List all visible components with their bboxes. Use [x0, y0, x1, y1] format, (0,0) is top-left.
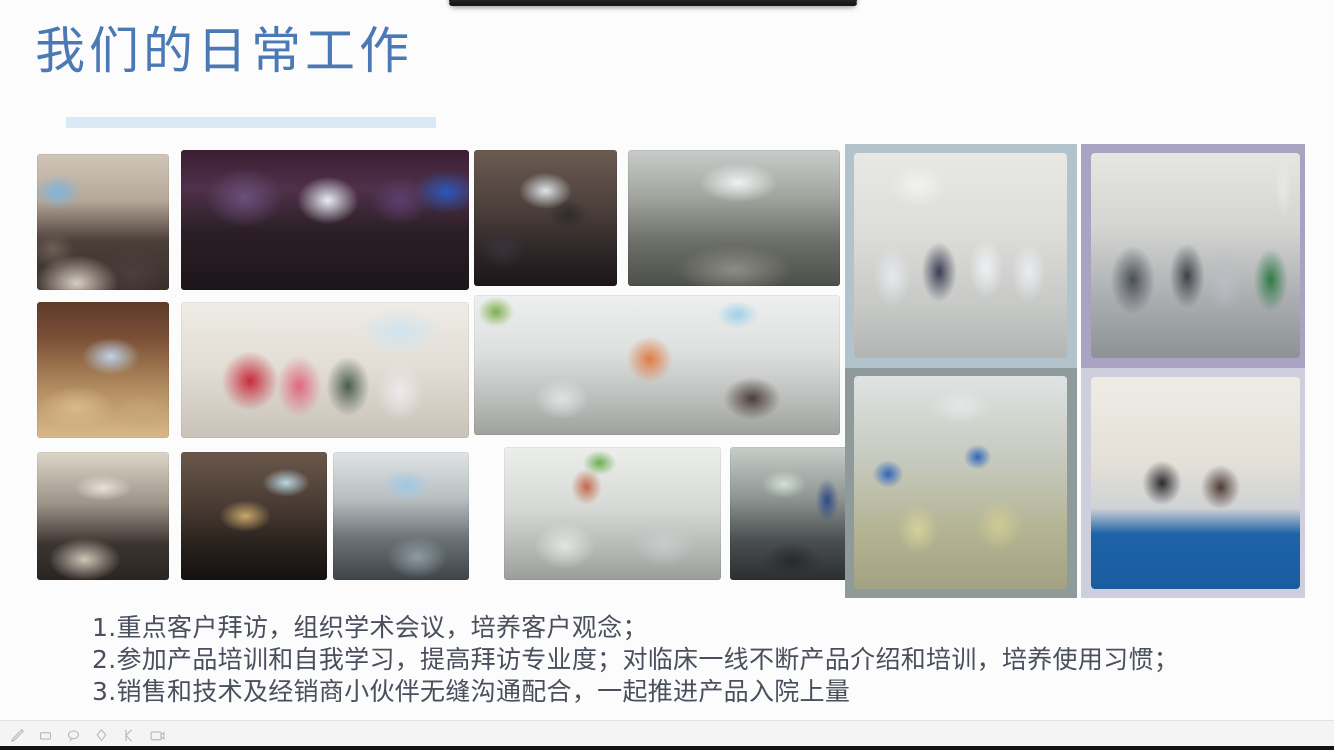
photo-collage [33, 140, 1305, 602]
screenshot-icon[interactable] [148, 726, 167, 745]
photo-hospital-corridor-doctors [854, 153, 1067, 358]
photo-ward-training-group [504, 447, 721, 580]
photo-round-table-meeting [181, 452, 327, 580]
tile-hospital-corridor-doctors [845, 144, 1077, 368]
photo-large-stage-event [181, 150, 469, 290]
title-underline [66, 117, 436, 128]
presentation-slide: 我们的日常工作 1.重点客户拜访 [0, 0, 1334, 750]
screen-bottom-edge [0, 746, 1334, 750]
photo-award-ceremony-group [181, 302, 469, 438]
tile-abbott-booth-staff [1081, 368, 1305, 598]
photo-conference-audience [37, 154, 169, 290]
lasso-icon[interactable] [64, 726, 83, 745]
page-title: 我们的日常工作 [35, 22, 413, 81]
floating-toolbar[interactable] [449, 0, 857, 6]
photo-banquet-hall-meeting [37, 302, 169, 438]
floating-toolbar-edge [449, 3, 857, 6]
tile-clinic-door-discussion [1081, 144, 1305, 368]
photo-small-meeting-room [474, 150, 617, 286]
bullet-item-1: 1.重点客户拜访，组织学术会议，培养客户观念； [92, 612, 1322, 644]
photo-clinic-door-discussion [1091, 153, 1300, 358]
photo-lecture-hall-nurses [628, 150, 840, 286]
eraser-icon[interactable] [36, 726, 55, 745]
bullet-list: 1.重点客户拜访，组织学术会议，培养客户观念； 2.参加产品培训和自我学习，提高… [92, 612, 1322, 708]
photo-classroom-projector [333, 452, 469, 580]
bullet-item-2: 2.参加产品培训和自我学习，提高拜访专业度；对临床一线不断产品介绍和培训，培养使… [92, 644, 1322, 676]
tile-ppe-team-testing [845, 368, 1077, 598]
bullet-item-3: 3.销售和技术及经销商小伙伴无缝沟通配合，一起推进产品入院上量 [92, 676, 1322, 708]
highlighter-icon[interactable] [92, 726, 111, 745]
photo-nurses-group-discussion [474, 295, 840, 435]
pointer-icon[interactable] [120, 726, 139, 745]
photo-abbott-booth-staff [1091, 377, 1300, 589]
pen-icon[interactable] [8, 726, 27, 745]
photo-seminar-room-back [37, 452, 169, 580]
photo-ppe-team-testing [854, 376, 1067, 589]
